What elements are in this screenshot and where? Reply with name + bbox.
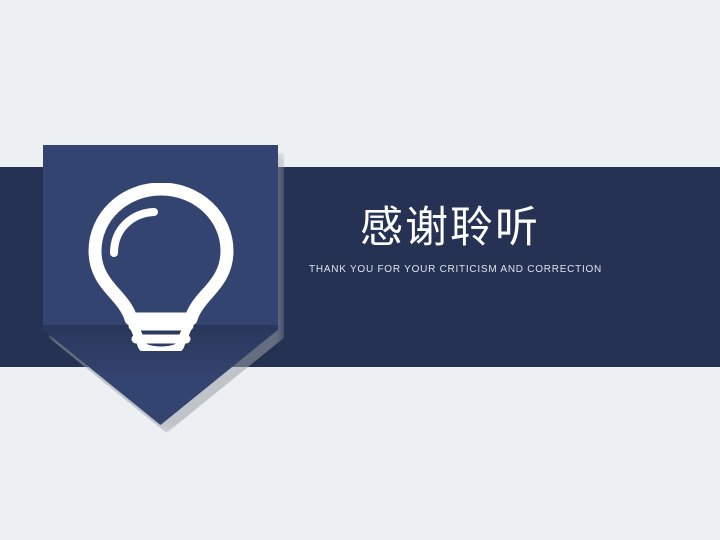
banner-shield (43, 145, 292, 430)
page-title: 感谢聆听 (309, 203, 591, 253)
lightbulb-icon (81, 183, 241, 351)
text-block: 感谢聆听 THANK YOU FOR YOUR CRITICISM AND CO… (309, 203, 591, 276)
page-subtitle: THANK YOU FOR YOUR CRITICISM AND CORRECT… (309, 263, 591, 276)
thank-you-slide: 感谢聆听 THANK YOU FOR YOUR CRITICISM AND CO… (0, 0, 720, 540)
banner-shape (43, 145, 278, 425)
